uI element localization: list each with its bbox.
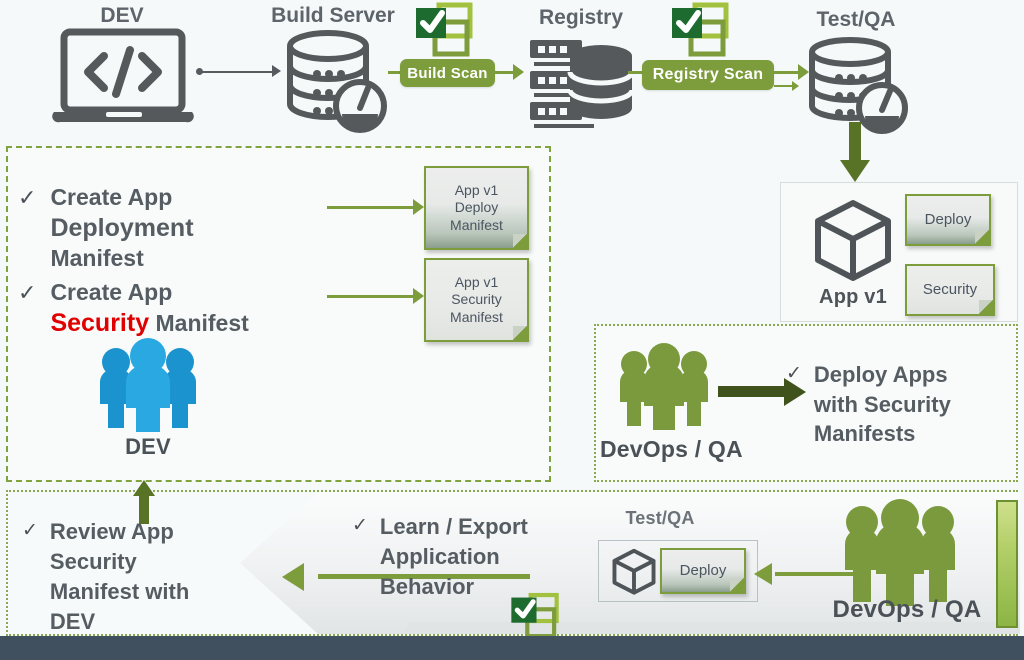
dev-task-2-line1: Create App xyxy=(50,279,172,305)
app-security-badge-label: Security xyxy=(923,281,977,300)
dev-task-2-line3: Manifest xyxy=(156,310,249,336)
database-gauge-icon xyxy=(806,38,910,130)
security-manifest-card[interactable]: App v1 Security Manifest xyxy=(424,258,529,342)
bottom-bar xyxy=(0,636,1024,660)
server-database-icon xyxy=(528,38,638,130)
scan-check-icon xyxy=(412,2,474,58)
checkmark-icon: ✓ xyxy=(18,282,36,304)
security-manifest-line3: Manifest xyxy=(450,309,503,327)
dev-to-security-manifest-line xyxy=(327,295,415,298)
devops-task-line1: Deploy Apps xyxy=(814,362,948,387)
testqa-to-app-arrow xyxy=(840,122,870,184)
devops-to-deploy-arrowhead xyxy=(754,563,772,585)
deploy-manifest-card[interactable]: App v1 Deploy Manifest xyxy=(424,166,529,250)
deploy-manifest-line1: App v1 xyxy=(455,182,499,200)
dev-task-1-line3: Manifest xyxy=(50,245,143,271)
scan-to-testqa-line xyxy=(774,71,800,74)
progress-strip xyxy=(996,500,1018,628)
checkmark-icon: ✓ xyxy=(18,187,36,209)
page-fold-icon xyxy=(730,578,746,594)
laptop-code-icon xyxy=(52,28,200,128)
dev-to-build-line xyxy=(202,71,274,73)
people-group-icon xyxy=(614,344,714,430)
dev-task-2-line2: Security xyxy=(50,309,149,337)
page-fold-icon xyxy=(513,234,529,250)
scan-secondary-arrowhead xyxy=(792,81,799,91)
people-group-icon xyxy=(838,498,962,608)
review-line3: Manifest with xyxy=(50,579,189,604)
dev-to-deploy-manifest-line xyxy=(327,206,415,209)
app-security-badge[interactable]: Security xyxy=(905,264,995,316)
app-label: App v1 xyxy=(800,286,906,309)
learn-line2: Application xyxy=(380,544,500,569)
cube-icon xyxy=(608,548,660,596)
build-scan-pill[interactable]: Build Scan xyxy=(400,59,495,87)
scan-check-icon xyxy=(668,2,730,58)
checkmark-icon: ✓ xyxy=(786,364,802,383)
testqa-label: Test/QA xyxy=(792,8,920,32)
security-manifest-line2: Security xyxy=(451,291,502,309)
dev-node-label: DEV xyxy=(62,4,182,28)
learn-task: ✓ Learn / Export Application Behavior xyxy=(352,512,602,602)
devops-task: ✓ Deploy Apps with Security Manifests xyxy=(786,360,1006,449)
scan-to-registry-line xyxy=(495,71,515,74)
bottom-testqa-label: Test/QA xyxy=(600,508,720,529)
scan-check-icon xyxy=(508,592,560,640)
dev-to-build-arrowhead xyxy=(272,65,281,77)
bottom-deploy-badge-label: Deploy xyxy=(680,562,727,581)
dev-task-deployment: ✓ Create App Deployment Manifest xyxy=(18,183,318,274)
registry-scan-pill[interactable]: Registry Scan xyxy=(642,60,774,90)
review-task: ✓ Review App Security Manifest with DEV xyxy=(22,517,252,637)
devops-task-line2: with Security xyxy=(814,392,951,417)
deploy-manifest-line3: Manifest xyxy=(450,217,503,235)
diagram-canvas: DEV Build Server xyxy=(0,0,1024,660)
cube-icon xyxy=(812,198,894,284)
deploy-manifest-line2: Deploy xyxy=(455,199,499,217)
devops-team-label: DevOps / QA xyxy=(600,436,770,463)
checkmark-icon: ✓ xyxy=(22,521,38,540)
dev-to-security-manifest-arrowhead xyxy=(413,288,424,304)
checkmark-icon: ✓ xyxy=(352,516,368,535)
security-manifest-line1: App v1 xyxy=(455,274,499,292)
learn-line3: Behavior xyxy=(380,574,474,599)
review-line4: DEV xyxy=(50,609,95,634)
bottom-deploy-badge[interactable]: Deploy xyxy=(660,548,746,594)
people-group-icon xyxy=(92,340,204,432)
page-fold-icon xyxy=(975,230,991,246)
dev-task-1-line1: Create App xyxy=(50,184,172,210)
app-deploy-badge[interactable]: Deploy xyxy=(905,194,991,246)
review-line1: Review App xyxy=(50,519,174,544)
page-fold-icon xyxy=(979,300,995,316)
dev-task-security: ✓ Create App Security Manifest xyxy=(18,278,338,339)
scan-to-registry-arrowhead xyxy=(513,64,524,80)
dev-to-deploy-manifest-arrowhead xyxy=(413,199,424,215)
registry-label: Registry xyxy=(516,6,646,30)
scan-secondary-line xyxy=(774,85,794,87)
learn-line1: Learn / Export xyxy=(380,514,528,539)
page-fold-icon xyxy=(513,326,529,342)
database-gauge-icon xyxy=(284,30,388,130)
devops-task-line3: Manifests xyxy=(814,421,915,446)
dev-team-label: DEV xyxy=(92,434,204,460)
bottom-devops-team-label: DevOps / QA xyxy=(812,596,1002,624)
dev-task-1-line2: Deployment xyxy=(50,214,193,242)
app-deploy-badge-label: Deploy xyxy=(925,211,972,230)
build-server-label: Build Server xyxy=(258,4,408,28)
review-line2: Security xyxy=(50,549,137,574)
learn-to-review-arrowhead xyxy=(282,563,304,591)
